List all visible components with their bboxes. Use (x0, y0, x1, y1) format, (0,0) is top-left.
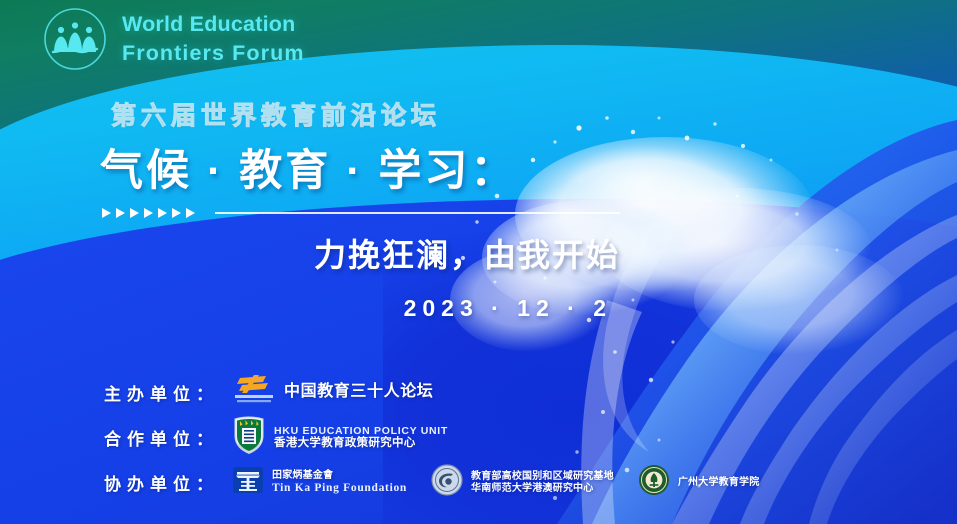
event-date: 2023 · 12 · 2 (100, 295, 612, 322)
sponsor-row-co-organizer: 协办单位： 田 (104, 462, 804, 503)
sponsor-label: 主办单位： (104, 380, 232, 405)
sponsor-row-organizer: 主办单位： 中国教育三十人论坛 (104, 372, 804, 413)
sponsor-item: HKU EDUCATION POLICY UNIT 香港大学教育政策研究中心 (232, 416, 448, 459)
china-education-30-forum-logo (232, 373, 276, 412)
event-subhead: 力挽狂澜，由我开始 (100, 230, 620, 276)
sponsor-name-cn: 教育部高校国别和区域研究基地 (471, 471, 614, 483)
brand-line-1: World Education (122, 10, 305, 39)
sponsor-name-cn: 香港大学教育政策研究中心 (274, 437, 448, 450)
divider-row (102, 208, 620, 218)
sponsor-item: 田家炳基金會 Tin Ka Ping Foundation (232, 465, 407, 500)
sponsor-name-cn-2: 华南师范大学港澳研究中心 (471, 483, 614, 495)
sponsor-name-cn: 田家炳基金會 (272, 470, 407, 482)
sponsor-name-cn: 广州大学教育学院 (678, 477, 760, 489)
brand-line-2: Frontiers Forum (122, 39, 305, 68)
event-kicker: 第六届世界教育前沿论坛 (111, 96, 620, 132)
sponsor-name-cn: 中国教育三十人论坛 (284, 383, 433, 401)
sponsor-item: 中国教育三十人论坛 (232, 373, 433, 412)
sponsor-item: 广州大学教育学院 (638, 464, 760, 501)
event-headline: 气候 · 教育 · 学习： (100, 136, 620, 198)
sponsor-name-en: Tin Ka Ping Foundation (272, 482, 407, 495)
scnu-seal-icon (431, 464, 463, 501)
sponsor-label: 协办单位： (104, 470, 232, 495)
sponsor-row-partner: 合作单位： (104, 416, 804, 459)
arrow-markers-icon (102, 208, 195, 218)
brand-header: World Education Frontiers Forum (42, 6, 305, 72)
hku-crest-icon (232, 416, 266, 459)
horizontal-rule (215, 212, 620, 214)
three-people-wave-circle-logo (42, 6, 108, 72)
guangzhou-university-seal-icon (638, 464, 670, 501)
sponsor-label: 合作单位： (104, 425, 232, 450)
sponsor-item: 教育部高校国别和区域研究基地 华南师范大学港澳研究中心 (431, 464, 614, 501)
conference-poster: World Education Frontiers Forum 第六届世界教育前… (0, 0, 957, 524)
tin-ka-ping-foundation-icon (232, 465, 264, 500)
sponsor-name-en: HKU EDUCATION POLICY UNIT (274, 425, 448, 437)
sponsors-section: 主办单位： 中国教育三十人论坛 (104, 372, 804, 506)
title-block: 第六届世界教育前沿论坛 气候 · 教育 · 学习： 力挽狂澜，由我开始 2023… (100, 96, 620, 322)
brand-wordmark: World Education Frontiers Forum (122, 10, 305, 68)
